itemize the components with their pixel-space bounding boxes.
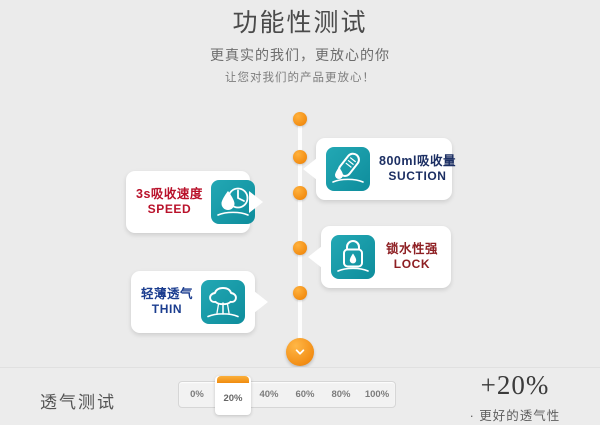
scale-tick-1-active[interactable]: 20% xyxy=(215,376,251,415)
badge-label-cn: 轻薄透气 xyxy=(141,287,193,302)
scale-tick-0[interactable]: 0% xyxy=(179,382,215,407)
scale-tick-label: 20% xyxy=(223,393,242,404)
timeline xyxy=(284,112,316,362)
badge-text: 3s吸收速度 SPEED xyxy=(136,187,203,217)
badge-label-cn: 800ml吸收量 xyxy=(379,154,456,169)
badge-pointer xyxy=(308,246,322,268)
bottom-divider xyxy=(0,367,600,368)
breathability-test-label: 透气测试 xyxy=(40,388,116,413)
feature-badge-speed[interactable]: 3s吸收速度 SPEED xyxy=(126,171,250,233)
badge-text: 锁水性强 LOCK xyxy=(386,242,438,272)
timeline-dot xyxy=(293,241,307,255)
chevron-down-icon xyxy=(293,345,307,359)
tree-airflow-icon xyxy=(201,280,245,324)
feature-badge-lock[interactable]: 锁水性强 LOCK xyxy=(321,226,451,288)
feature-badge-thin[interactable]: 轻薄透气 THIN xyxy=(131,271,255,333)
badge-label-en: LOCK xyxy=(386,257,438,272)
scale-tick-cap xyxy=(217,376,249,383)
scale-tick-5[interactable]: 100% xyxy=(359,382,395,407)
timeline-dot xyxy=(293,112,307,126)
badge-pointer xyxy=(249,191,263,213)
scale-tick-4[interactable]: 80% xyxy=(323,382,359,407)
badge-label-en: SUCTION xyxy=(379,169,456,184)
badge-label-cn: 3s吸收速度 xyxy=(136,187,203,202)
badge-label-en: SPEED xyxy=(136,202,203,217)
page-subtitle-secondary: 让您对我们的产品更放心！ xyxy=(0,69,600,85)
timeline-dot xyxy=(293,186,307,200)
badge-label-en: THIN xyxy=(141,302,193,317)
scale-tick-2[interactable]: 40% xyxy=(251,382,287,407)
page-header: 功能性测试 更真实的我们，更放心的你 让您对我们的产品更放心！ xyxy=(0,8,600,85)
scale-tick-3[interactable]: 60% xyxy=(287,382,323,407)
breathability-result: +20% · 更好的透气性 xyxy=(440,372,590,424)
badge-text: 轻薄透气 THIN xyxy=(141,287,193,317)
test-tube-droplet-icon xyxy=(326,147,370,191)
badge-pointer xyxy=(303,158,317,180)
padlock-droplet-icon xyxy=(331,235,375,279)
percent-value: +20% xyxy=(440,372,590,399)
page-title: 功能性测试 xyxy=(0,8,600,39)
percent-note: · 更好的透气性 xyxy=(440,405,590,424)
badge-label-cn: 锁水性强 xyxy=(386,242,438,257)
timeline-end-button[interactable] xyxy=(286,338,314,366)
feature-badge-suction[interactable]: 800ml吸收量 SUCTION xyxy=(316,138,452,200)
breathability-scale[interactable]: 0% 20% 40% 60% 80% 100% xyxy=(178,381,396,408)
badge-text: 800ml吸收量 SUCTION xyxy=(379,154,456,184)
page-subtitle-primary: 更真实的我们，更放心的你 xyxy=(0,45,600,65)
timeline-dot xyxy=(293,286,307,300)
badge-pointer xyxy=(254,291,268,313)
